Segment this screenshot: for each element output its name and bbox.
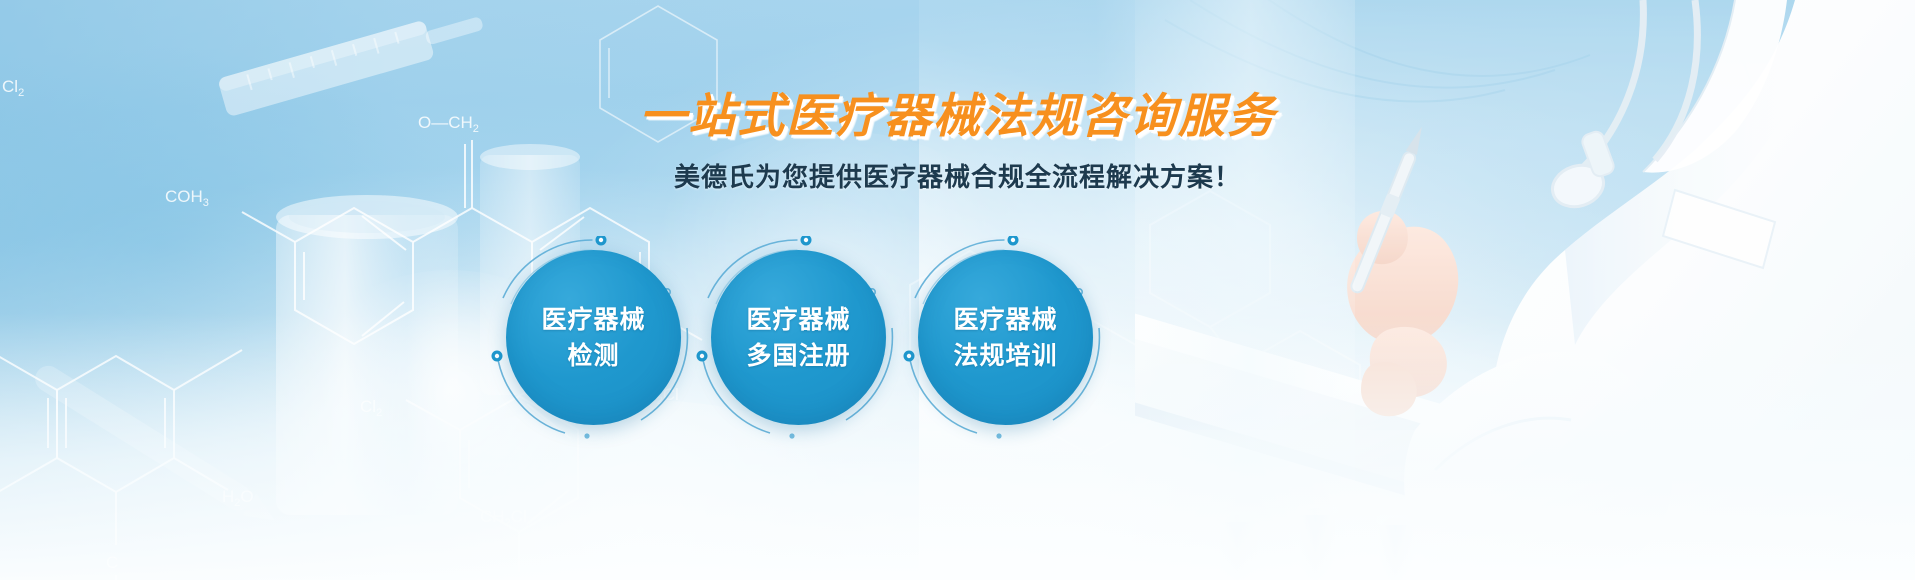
hero-banner: COH3 O—CH2 CH2Cl Cl2 CH2Cl — [0, 0, 1915, 580]
service-circle-registration[interactable]: 医疗器械 多国注册 — [711, 250, 886, 425]
service-circle-testing[interactable]: 医疗器械 检测 — [506, 250, 681, 425]
page-subtitle: 美德氏为您提供医疗器械合规全流程解决方案！ — [674, 157, 1241, 194]
service-label-line1: 医疗器械 — [541, 302, 645, 338]
service-label-line2: 多国注册 — [746, 338, 850, 374]
service-slot-registration: 医疗器械 多国注册 — [698, 228, 898, 483]
service-label-line2: 检测 — [567, 338, 619, 374]
service-circle-training[interactable]: 医疗器械 法规培训 — [918, 250, 1093, 425]
page-title: 一站式医疗器械法规咨询服务 — [639, 92, 1276, 141]
subheadline-container: 美德氏为您提供医疗器械合规全流程解决方案！ — [0, 157, 1915, 194]
headline-container: 一站式医疗器械法规咨询服务 — [0, 92, 1915, 141]
service-slot-training: 医疗器械 法规培训 — [905, 228, 1105, 483]
service-slot-testing: 医疗器械 检测 — [493, 228, 693, 483]
service-label-line1: 医疗器械 — [746, 302, 850, 338]
service-circles: 医疗器械 检测 — [493, 228, 1093, 483]
service-label-line2: 法规培训 — [953, 338, 1057, 374]
service-label-line1: 医疗器械 — [953, 302, 1057, 338]
